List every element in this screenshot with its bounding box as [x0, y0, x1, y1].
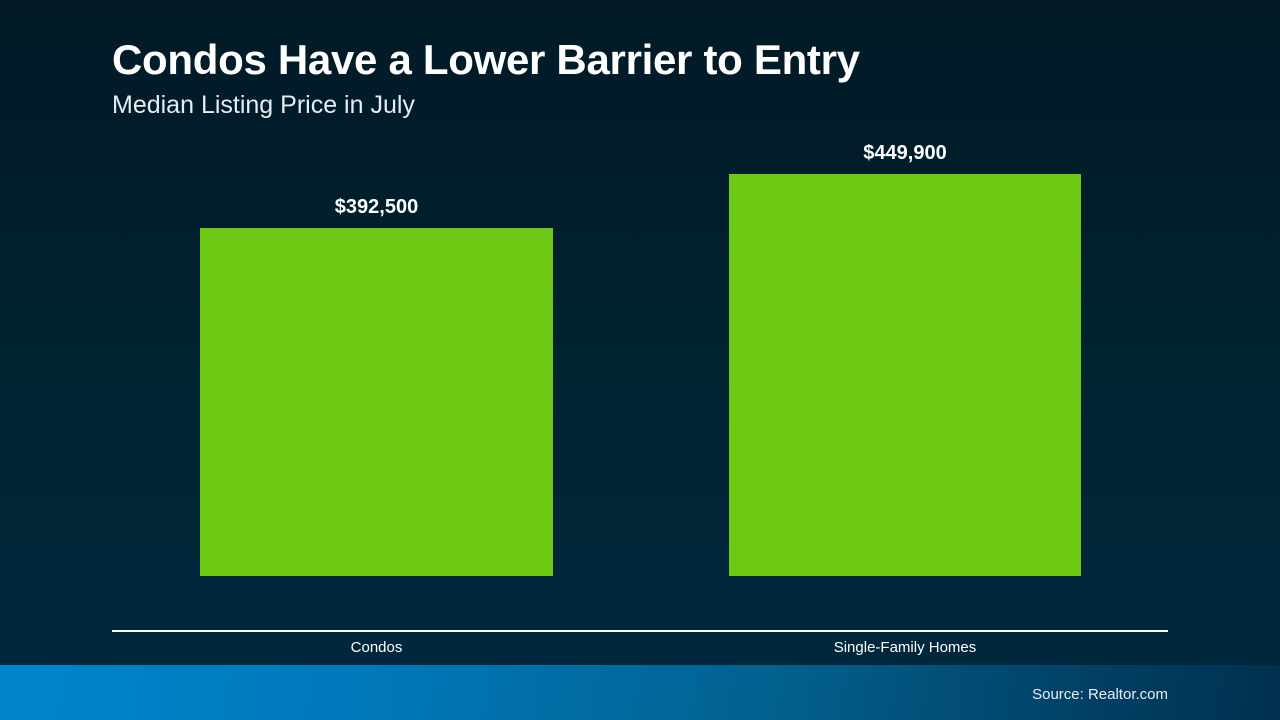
x-axis-tick-label-condos: Condos	[200, 639, 553, 656]
x-axis-tick-label-single-family-homes: Single-Family Homes	[729, 639, 1081, 656]
bar-condos[interactable]	[200, 228, 553, 576]
bar-single-family-homes[interactable]	[729, 174, 1081, 576]
chart-slide: Condos Have a Lower Barrier to Entry Med…	[0, 0, 1280, 720]
bar-group-single-family-homes: $449,900	[729, 174, 1081, 576]
source-attribution: Source: Realtor.com	[1032, 686, 1168, 703]
bar-value-label-condos: $392,500	[200, 196, 553, 219]
chart-plot-area: $392,500 $449,900 Condos Single-Family H…	[0, 0, 1280, 665]
bar-group-condos: $392,500	[200, 228, 553, 576]
bar-value-label-single-family-homes: $449,900	[729, 142, 1081, 165]
x-axis-line	[112, 630, 1168, 632]
